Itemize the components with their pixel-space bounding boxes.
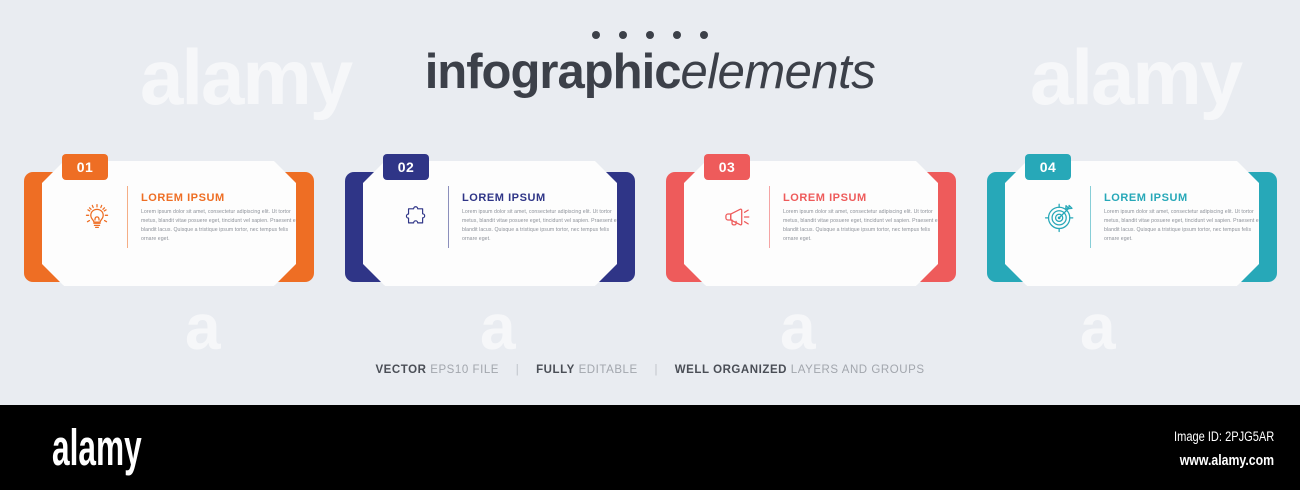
card-title: LOREM IPSUM bbox=[141, 192, 302, 204]
card-text-block: LOREM IPSUMLorem ipsum dolor sit amet, c… bbox=[783, 190, 944, 244]
card-divider bbox=[1090, 186, 1091, 248]
card-title: LOREM IPSUM bbox=[783, 192, 944, 204]
card-text-block: LOREM IPSUMLorem ipsum dolor sit amet, c… bbox=[462, 190, 623, 244]
card-number-badge: 03 bbox=[704, 154, 750, 180]
watermark-text: a bbox=[780, 295, 814, 359]
card-title: LOREM IPSUM bbox=[462, 192, 623, 204]
alamy-logo: alamy bbox=[52, 422, 142, 473]
image-id-label: Image ID: 2PJG5AR bbox=[1174, 429, 1274, 444]
card-content: LOREM IPSUMLorem ipsum dolor sit amet, c… bbox=[718, 176, 944, 258]
card-content: LOREM IPSUMLorem ipsum dolor sit amet, c… bbox=[76, 176, 302, 258]
page-title-bold: infographic bbox=[425, 45, 681, 99]
card-body-text: Lorem ipsum dolor sit amet, consectetur … bbox=[141, 208, 302, 244]
page-title-italic: elements bbox=[680, 45, 875, 99]
footnote-fully-rest: EDITABLE bbox=[579, 364, 638, 376]
infographic-canvas: alamyalamyaaaa infographicelements LOREM… bbox=[0, 0, 1300, 405]
card-number-badge: 01 bbox=[62, 154, 108, 180]
infographic-card[interactable]: LOREM IPSUMLorem ipsum dolor sit amet, c… bbox=[345, 172, 635, 282]
card-divider bbox=[127, 186, 128, 248]
footnote-vector-rest: EPS10 FILE bbox=[430, 364, 499, 376]
card-divider bbox=[448, 186, 449, 248]
alamy-footer-bar: alamy Image ID: 2PJG5AR www.alamy.com bbox=[0, 405, 1300, 490]
target-icon bbox=[1039, 196, 1081, 238]
watermark-text: a bbox=[1080, 295, 1114, 359]
puzzle-piece-icon bbox=[397, 196, 439, 238]
watermark-text: a bbox=[185, 295, 219, 359]
card-body-text: Lorem ipsum dolor sit amet, consectetur … bbox=[462, 208, 623, 244]
lightbulb-icon bbox=[76, 196, 118, 238]
watermark-text: a bbox=[480, 295, 514, 359]
card-body-text: Lorem ipsum dolor sit amet, consectetur … bbox=[1104, 208, 1265, 244]
megaphone-icon bbox=[718, 196, 760, 238]
alamy-url[interactable]: www.alamy.com bbox=[1180, 452, 1274, 469]
decorative-dot bbox=[673, 31, 681, 39]
footnote-separator-1: | bbox=[503, 364, 533, 376]
cards-row: LOREM IPSUMLorem ipsum dolor sit amet, c… bbox=[0, 172, 1300, 292]
footnote-vector-bold: VECTOR bbox=[375, 364, 426, 376]
card-body-text: Lorem ipsum dolor sit amet, consectetur … bbox=[783, 208, 944, 244]
footnote-organized-bold: WELL ORGANIZED bbox=[675, 364, 787, 376]
decorative-dot bbox=[619, 31, 627, 39]
decorative-dot bbox=[646, 31, 654, 39]
card-divider bbox=[769, 186, 770, 248]
card-text-block: LOREM IPSUMLorem ipsum dolor sit amet, c… bbox=[141, 190, 302, 244]
card-text-block: LOREM IPSUMLorem ipsum dolor sit amet, c… bbox=[1104, 190, 1265, 244]
infographic-card[interactable]: LOREM IPSUMLorem ipsum dolor sit amet, c… bbox=[987, 172, 1277, 282]
card-title: LOREM IPSUM bbox=[1104, 192, 1265, 204]
card-content: LOREM IPSUMLorem ipsum dolor sit amet, c… bbox=[397, 176, 623, 258]
footnote-organized-rest: LAYERS AND GROUPS bbox=[791, 364, 925, 376]
decorative-dot bbox=[700, 31, 708, 39]
card-number-badge: 04 bbox=[1025, 154, 1071, 180]
infographic-card[interactable]: LOREM IPSUMLorem ipsum dolor sit amet, c… bbox=[666, 172, 956, 282]
card-content: LOREM IPSUMLorem ipsum dolor sit amet, c… bbox=[1039, 176, 1265, 258]
decorative-dots bbox=[0, 31, 1300, 39]
card-number-badge: 02 bbox=[383, 154, 429, 180]
footnote: VECTOR EPS10 FILE | FULLY EDITABLE | WEL… bbox=[0, 364, 1300, 376]
page-title: infographicelements bbox=[0, 48, 1300, 97]
infographic-card[interactable]: LOREM IPSUMLorem ipsum dolor sit amet, c… bbox=[24, 172, 314, 282]
decorative-dot bbox=[592, 31, 600, 39]
footnote-fully-bold: FULLY bbox=[536, 364, 575, 376]
footnote-separator-2: | bbox=[641, 364, 671, 376]
